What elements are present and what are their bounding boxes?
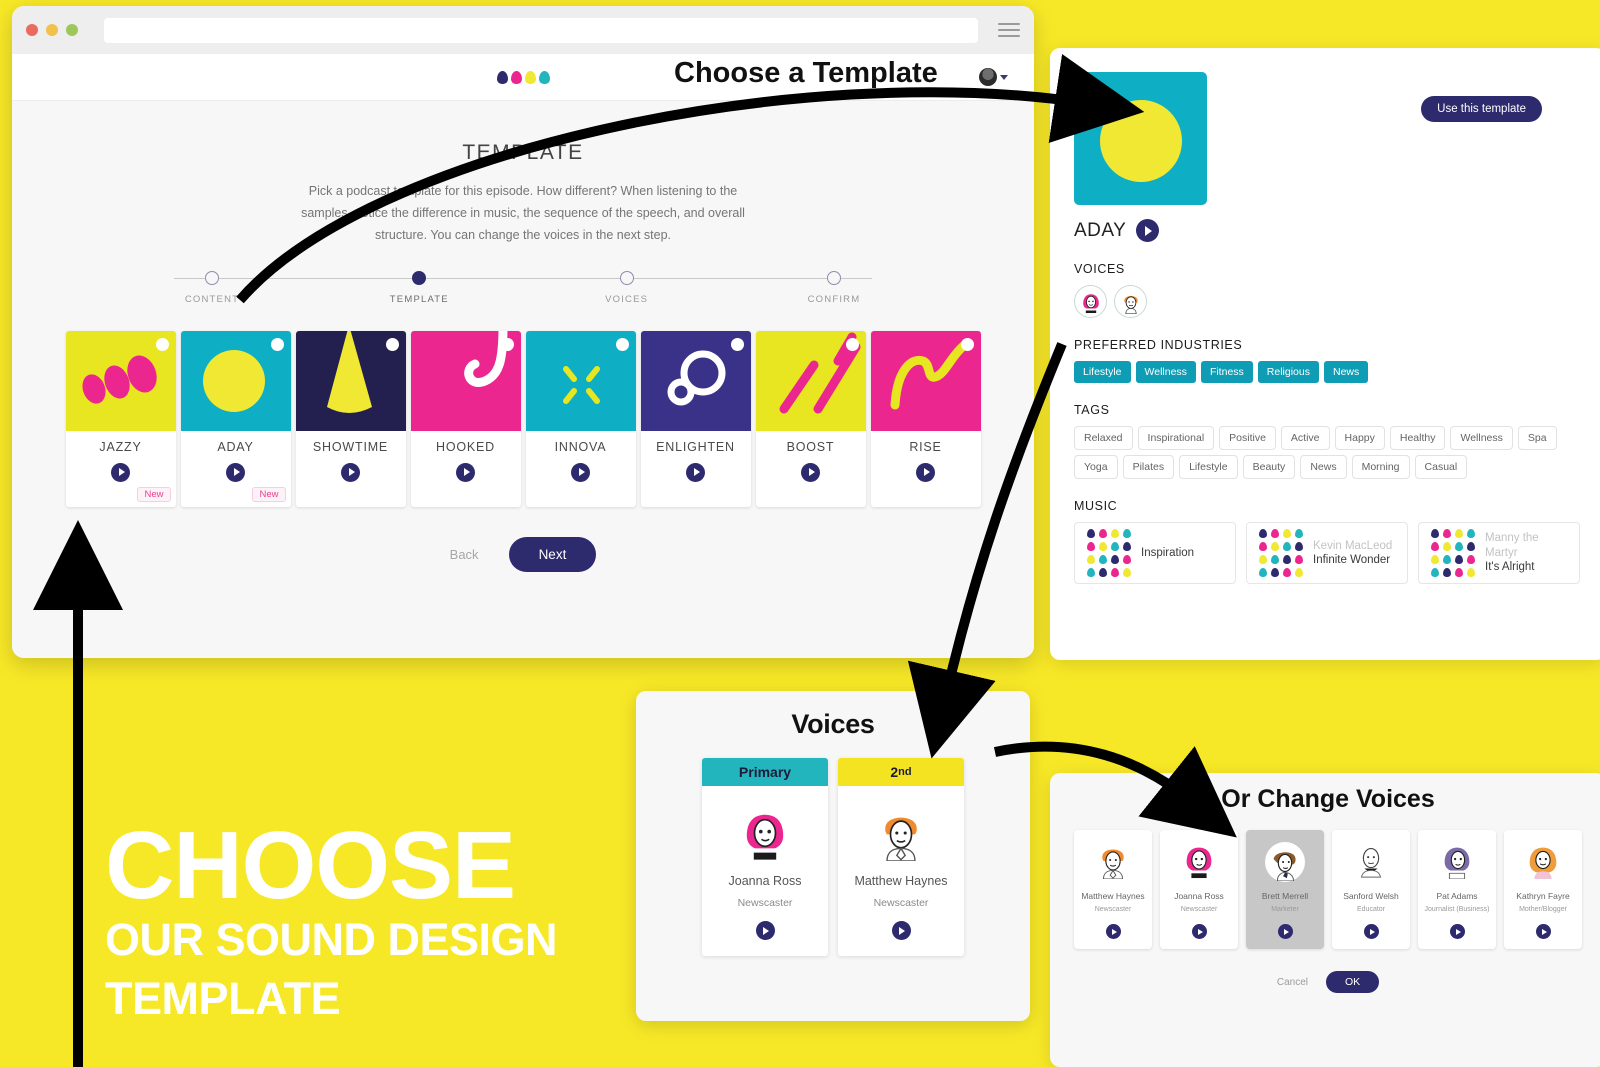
- voice-slot-label: Primary: [739, 764, 791, 780]
- play-icon[interactable]: [111, 463, 130, 482]
- voice-slot-header: 2nd: [838, 758, 964, 786]
- template-card-art: [871, 331, 981, 431]
- music-card-text: Inspiration: [1141, 546, 1194, 560]
- voice-slot-header: Primary: [702, 758, 828, 786]
- voice-card-list: PrimaryJoanna RossNewscaster2ndMatthew H…: [636, 758, 1030, 956]
- voice-card-body: Joanna RossNewscaster: [702, 786, 828, 956]
- template-card-art: [66, 331, 176, 431]
- voice-avatar-female[interactable]: [1074, 285, 1107, 318]
- voice-avatar-icon: [838, 800, 964, 866]
- play-icon[interactable]: [456, 463, 475, 482]
- app-content: TEMPLATE Pick a podcast template for thi…: [12, 101, 1034, 658]
- template-select-radio[interactable]: [156, 338, 169, 351]
- tag-chip[interactable]: Lifestyle: [1179, 455, 1238, 479]
- play-icon[interactable]: [1536, 924, 1551, 939]
- page-title: TEMPLATE: [12, 141, 1034, 165]
- play-icon[interactable]: [1136, 219, 1159, 242]
- industry-chip[interactable]: News: [1324, 361, 1368, 383]
- industry-chip[interactable]: Religious: [1258, 361, 1319, 383]
- voice-card[interactable]: PrimaryJoanna RossNewscaster: [702, 758, 828, 956]
- tag-chip[interactable]: Beauty: [1243, 455, 1296, 479]
- user-menu[interactable]: [979, 68, 1008, 86]
- industry-chip[interactable]: Wellness: [1136, 361, 1196, 383]
- music-card-list: InspirationKevin MacLeodInfinite WonderM…: [1074, 522, 1600, 584]
- wizard-nav: Back Next: [12, 537, 1034, 572]
- template-card-meta: SHOWTIME: [296, 431, 406, 507]
- music-card-text: Kevin MacLeodInfinite Wonder: [1313, 539, 1392, 568]
- voice-avatar-icon: [1077, 840, 1149, 884]
- template-card-art: [296, 331, 406, 431]
- template-card[interactable]: RISE: [871, 331, 981, 507]
- play-icon[interactable]: [916, 463, 935, 482]
- template-select-radio[interactable]: [501, 338, 514, 351]
- close-icon[interactable]: [26, 24, 38, 36]
- play-icon[interactable]: [756, 921, 775, 940]
- voice-name: Joanna Ross: [1163, 891, 1235, 901]
- template-card-meta: INNOVA: [526, 431, 636, 507]
- template-card-art: [411, 331, 521, 431]
- stepper-node-template[interactable]: TEMPLATE: [374, 271, 464, 321]
- change-voices-title: Or Change Voices: [1050, 785, 1600, 814]
- template-card-art: [756, 331, 866, 431]
- use-this-template-button[interactable]: Use this template: [1421, 96, 1542, 122]
- voice-name: Brett Merrell: [1249, 891, 1321, 901]
- industry-chip[interactable]: Lifestyle: [1074, 361, 1131, 383]
- page-description: Pick a podcast template for this episode…: [288, 181, 758, 247]
- new-badge: New: [252, 487, 285, 502]
- music-title: Infinite Wonder: [1313, 553, 1392, 567]
- template-card-meta: HOOKED: [411, 431, 521, 507]
- voice-avatar-icon: [702, 800, 828, 866]
- voice-slot-label: 2: [890, 764, 898, 780]
- stepper-bullet-icon: [827, 271, 841, 285]
- tag-chip[interactable]: Positive: [1219, 426, 1276, 450]
- stepper-bullet-icon: [205, 271, 219, 285]
- stepper-node-confirm[interactable]: CONFIRM: [789, 271, 879, 321]
- music-title: Inspiration: [1141, 546, 1194, 560]
- address-bar[interactable]: [104, 18, 978, 43]
- industry-chip-list: LifestyleWellnessFitnessReligiousNews: [1074, 361, 1600, 383]
- template-card-name: RISE: [871, 440, 981, 454]
- template-card-name: INNOVA: [526, 440, 636, 454]
- industry-chip[interactable]: Fitness: [1201, 361, 1253, 383]
- voice-role: Newscaster: [1077, 906, 1149, 913]
- chevron-down-icon: [1000, 75, 1008, 80]
- music-title: It's Alright: [1485, 560, 1567, 574]
- stepper-label: VOICES: [582, 294, 672, 305]
- voices-popup-title: Voices: [636, 709, 1030, 740]
- voice-name: Matthew Haynes: [1077, 891, 1149, 901]
- tag-chip[interactable]: Casual: [1415, 455, 1468, 479]
- music-card-text: Manny the MartyrIt's Alright: [1485, 531, 1567, 574]
- voice-avatar-list: [1074, 285, 1600, 318]
- template-card-name: JAZZY: [66, 440, 176, 454]
- change-voice-card[interactable]: Pat AdamsJournalist (Business): [1418, 830, 1496, 949]
- play-icon[interactable]: [1106, 924, 1121, 939]
- tag-chip[interactable]: Pilates: [1123, 455, 1175, 479]
- voice-card-body: Matthew HaynesNewscaster: [838, 786, 964, 956]
- template-select-radio[interactable]: [616, 338, 629, 351]
- voices-heading: VOICES: [1074, 262, 1600, 276]
- industries-heading: PREFERRED INDUSTRIES: [1074, 338, 1600, 352]
- poster-headline: CHOOSE OUR SOUND DESIGN TEMPLATE: [105, 820, 557, 1028]
- voices-popup: Voices PrimaryJoanna RossNewscaster2ndMa…: [636, 691, 1030, 1021]
- play-icon[interactable]: [686, 463, 705, 482]
- tag-chip[interactable]: Inspirational: [1138, 426, 1215, 450]
- play-icon[interactable]: [892, 921, 911, 940]
- voice-avatar-icon: [1335, 840, 1407, 884]
- browser-chrome: [12, 6, 1034, 54]
- stepper-node-voices[interactable]: VOICES: [582, 271, 672, 321]
- ok-button[interactable]: OK: [1326, 971, 1379, 993]
- voice-role: Newscaster: [1163, 906, 1235, 913]
- template-select-radio[interactable]: [961, 338, 974, 351]
- stepper-label: CONTENT: [167, 294, 257, 305]
- voice-avatar-icon: [1421, 840, 1493, 884]
- play-icon[interactable]: [226, 463, 245, 482]
- hero-circle-shape: [1100, 100, 1182, 182]
- stepper-label: TEMPLATE: [374, 294, 464, 305]
- play-icon[interactable]: [1278, 924, 1293, 939]
- voice-avatar-icon: [1249, 840, 1321, 884]
- stepper-label: CONFIRM: [789, 294, 879, 305]
- template-card[interactable]: BOOST: [756, 331, 866, 507]
- voice-name: Pat Adams: [1421, 891, 1493, 901]
- voice-name: Matthew Haynes: [838, 874, 964, 888]
- template-card[interactable]: ENLIGHTEN: [641, 331, 751, 507]
- template-card-meta: BOOST: [756, 431, 866, 507]
- stepper-bullet-icon: [620, 271, 634, 285]
- next-button[interactable]: Next: [509, 537, 597, 572]
- brand-logo-icon: [497, 71, 550, 84]
- change-voices-panel: Or Change Voices Matthew HaynesNewscaste…: [1050, 773, 1600, 1067]
- music-heading: MUSIC: [1074, 499, 1600, 513]
- template-card[interactable]: SHOWTIME: [296, 331, 406, 507]
- template-card-name: ENLIGHTEN: [641, 440, 751, 454]
- play-icon[interactable]: [1192, 924, 1207, 939]
- voice-name: Sanford Welsh: [1335, 891, 1407, 901]
- app-header: [12, 54, 1034, 101]
- change-voices-card-list: Matthew HaynesNewscasterJoanna RossNewsc…: [1050, 830, 1600, 949]
- change-voice-card[interactable]: Matthew HaynesNewscaster: [1074, 830, 1152, 949]
- change-voices-actions: Cancel OK: [1050, 971, 1600, 993]
- stepper-bullet-icon: [412, 271, 426, 285]
- new-badge: New: [137, 487, 170, 502]
- voice-role: Educator: [1335, 906, 1407, 913]
- template-card[interactable]: ADAYNew: [181, 331, 291, 507]
- tag-chip[interactable]: Active: [1281, 426, 1330, 450]
- tags-heading: TAGS: [1074, 403, 1600, 417]
- template-card[interactable]: HOOKED: [411, 331, 521, 507]
- voice-role: Marketer: [1249, 906, 1321, 913]
- template-select-radio[interactable]: [386, 338, 399, 351]
- music-dot-grid-icon: [1259, 529, 1303, 577]
- change-voice-card[interactable]: Sanford WelshEducator: [1332, 830, 1410, 949]
- voice-name: Joanna Ross: [702, 874, 828, 888]
- template-card-name: ADAY: [181, 440, 291, 454]
- template-card-meta: JAZZYNew: [66, 431, 176, 507]
- template-select-radio[interactable]: [271, 338, 284, 351]
- tag-chip[interactable]: Spa: [1518, 426, 1557, 450]
- template-card-meta: ADAYNew: [181, 431, 291, 507]
- template-card-name: SHOWTIME: [296, 440, 406, 454]
- music-card[interactable]: Kevin MacLeodInfinite Wonder: [1246, 522, 1408, 584]
- tag-chip[interactable]: Yoga: [1074, 455, 1118, 479]
- template-card-meta: ENLIGHTEN: [641, 431, 751, 507]
- play-icon[interactable]: [801, 463, 820, 482]
- change-voice-card[interactable]: Brett MerrellMarketer: [1246, 830, 1324, 949]
- music-card[interactable]: Manny the MartyrIt's Alright: [1418, 522, 1580, 584]
- music-artist: Manny the Martyr: [1485, 531, 1567, 560]
- play-icon[interactable]: [341, 463, 360, 482]
- template-name-row: ADAY: [1074, 219, 1600, 242]
- stepper-node-content[interactable]: CONTENT: [167, 271, 257, 321]
- template-card-name: HOOKED: [411, 440, 521, 454]
- template-select-radio[interactable]: [731, 338, 744, 351]
- template-card[interactable]: JAZZYNew: [66, 331, 176, 507]
- play-icon[interactable]: [571, 463, 590, 482]
- music-card[interactable]: Inspiration: [1074, 522, 1236, 584]
- music-dot-grid-icon: [1087, 529, 1131, 577]
- tag-chip[interactable]: Happy: [1335, 426, 1385, 450]
- tag-chip[interactable]: Relaxed: [1074, 426, 1133, 450]
- play-icon[interactable]: [1450, 924, 1465, 939]
- template-card-meta: RISE: [871, 431, 981, 507]
- wizard-stepper: CONTENTTEMPLATEVOICESCONFIRM: [167, 271, 879, 321]
- maximize-icon[interactable]: [66, 24, 78, 36]
- hamburger-icon[interactable]: [998, 23, 1020, 37]
- voice-role: Newscaster: [702, 897, 828, 909]
- tag-chip[interactable]: Wellness: [1450, 426, 1512, 450]
- template-card-art: [181, 331, 291, 431]
- voice-card[interactable]: 2ndMatthew HaynesNewscaster: [838, 758, 964, 956]
- template-hero-art: [1074, 72, 1207, 205]
- poster-headline-line2: OUR SOUND DESIGN: [105, 911, 557, 970]
- music-artist: Kevin MacLeod: [1313, 539, 1392, 553]
- cancel-button[interactable]: Cancel: [1277, 977, 1308, 988]
- window-traffic-lights: [26, 24, 78, 36]
- template-card-list: JAZZYNewADAYNewSHOWTIMEHOOKEDINNOVAENLIG…: [12, 331, 1034, 507]
- template-card-name: BOOST: [756, 440, 866, 454]
- tag-chip[interactable]: Morning: [1352, 455, 1410, 479]
- browser-window: TEMPLATE Pick a podcast template for thi…: [12, 6, 1034, 658]
- poster-headline-line1: CHOOSE: [105, 820, 557, 911]
- change-voice-card[interactable]: Joanna RossNewscaster: [1160, 830, 1238, 949]
- voice-name: Kathryn Fayre: [1507, 891, 1579, 901]
- voice-role: Newscaster: [838, 897, 964, 909]
- minimize-icon[interactable]: [46, 24, 58, 36]
- poster-headline-line3: TEMPLATE: [105, 970, 557, 1029]
- template-name: ADAY: [1074, 220, 1126, 242]
- music-dot-grid-icon: [1431, 529, 1475, 577]
- voice-avatar-male[interactable]: [1114, 285, 1147, 318]
- avatar: [979, 68, 997, 86]
- voice-role: Journalist (Business): [1421, 906, 1493, 913]
- tag-chip[interactable]: Healthy: [1390, 426, 1446, 450]
- back-button[interactable]: Back: [450, 547, 479, 562]
- voice-slot-suffix: nd: [898, 766, 911, 778]
- template-card-art: [641, 331, 751, 431]
- voice-role: Mother/Blogger: [1507, 906, 1579, 913]
- template-card-art: [526, 331, 636, 431]
- template-card[interactable]: INNOVA: [526, 331, 636, 507]
- voice-avatar-icon: [1507, 840, 1579, 884]
- template-detail-panel: Use this template ADAY VOICES: [1050, 48, 1600, 660]
- template-select-radio[interactable]: [846, 338, 859, 351]
- play-icon[interactable]: [1364, 924, 1379, 939]
- tag-chip-list: RelaxedInspirationalPositiveActiveHappyH…: [1074, 426, 1600, 479]
- change-voice-card[interactable]: Kathryn FayreMother/Blogger: [1504, 830, 1582, 949]
- voice-avatar-icon: [1163, 840, 1235, 884]
- tag-chip[interactable]: News: [1300, 455, 1346, 479]
